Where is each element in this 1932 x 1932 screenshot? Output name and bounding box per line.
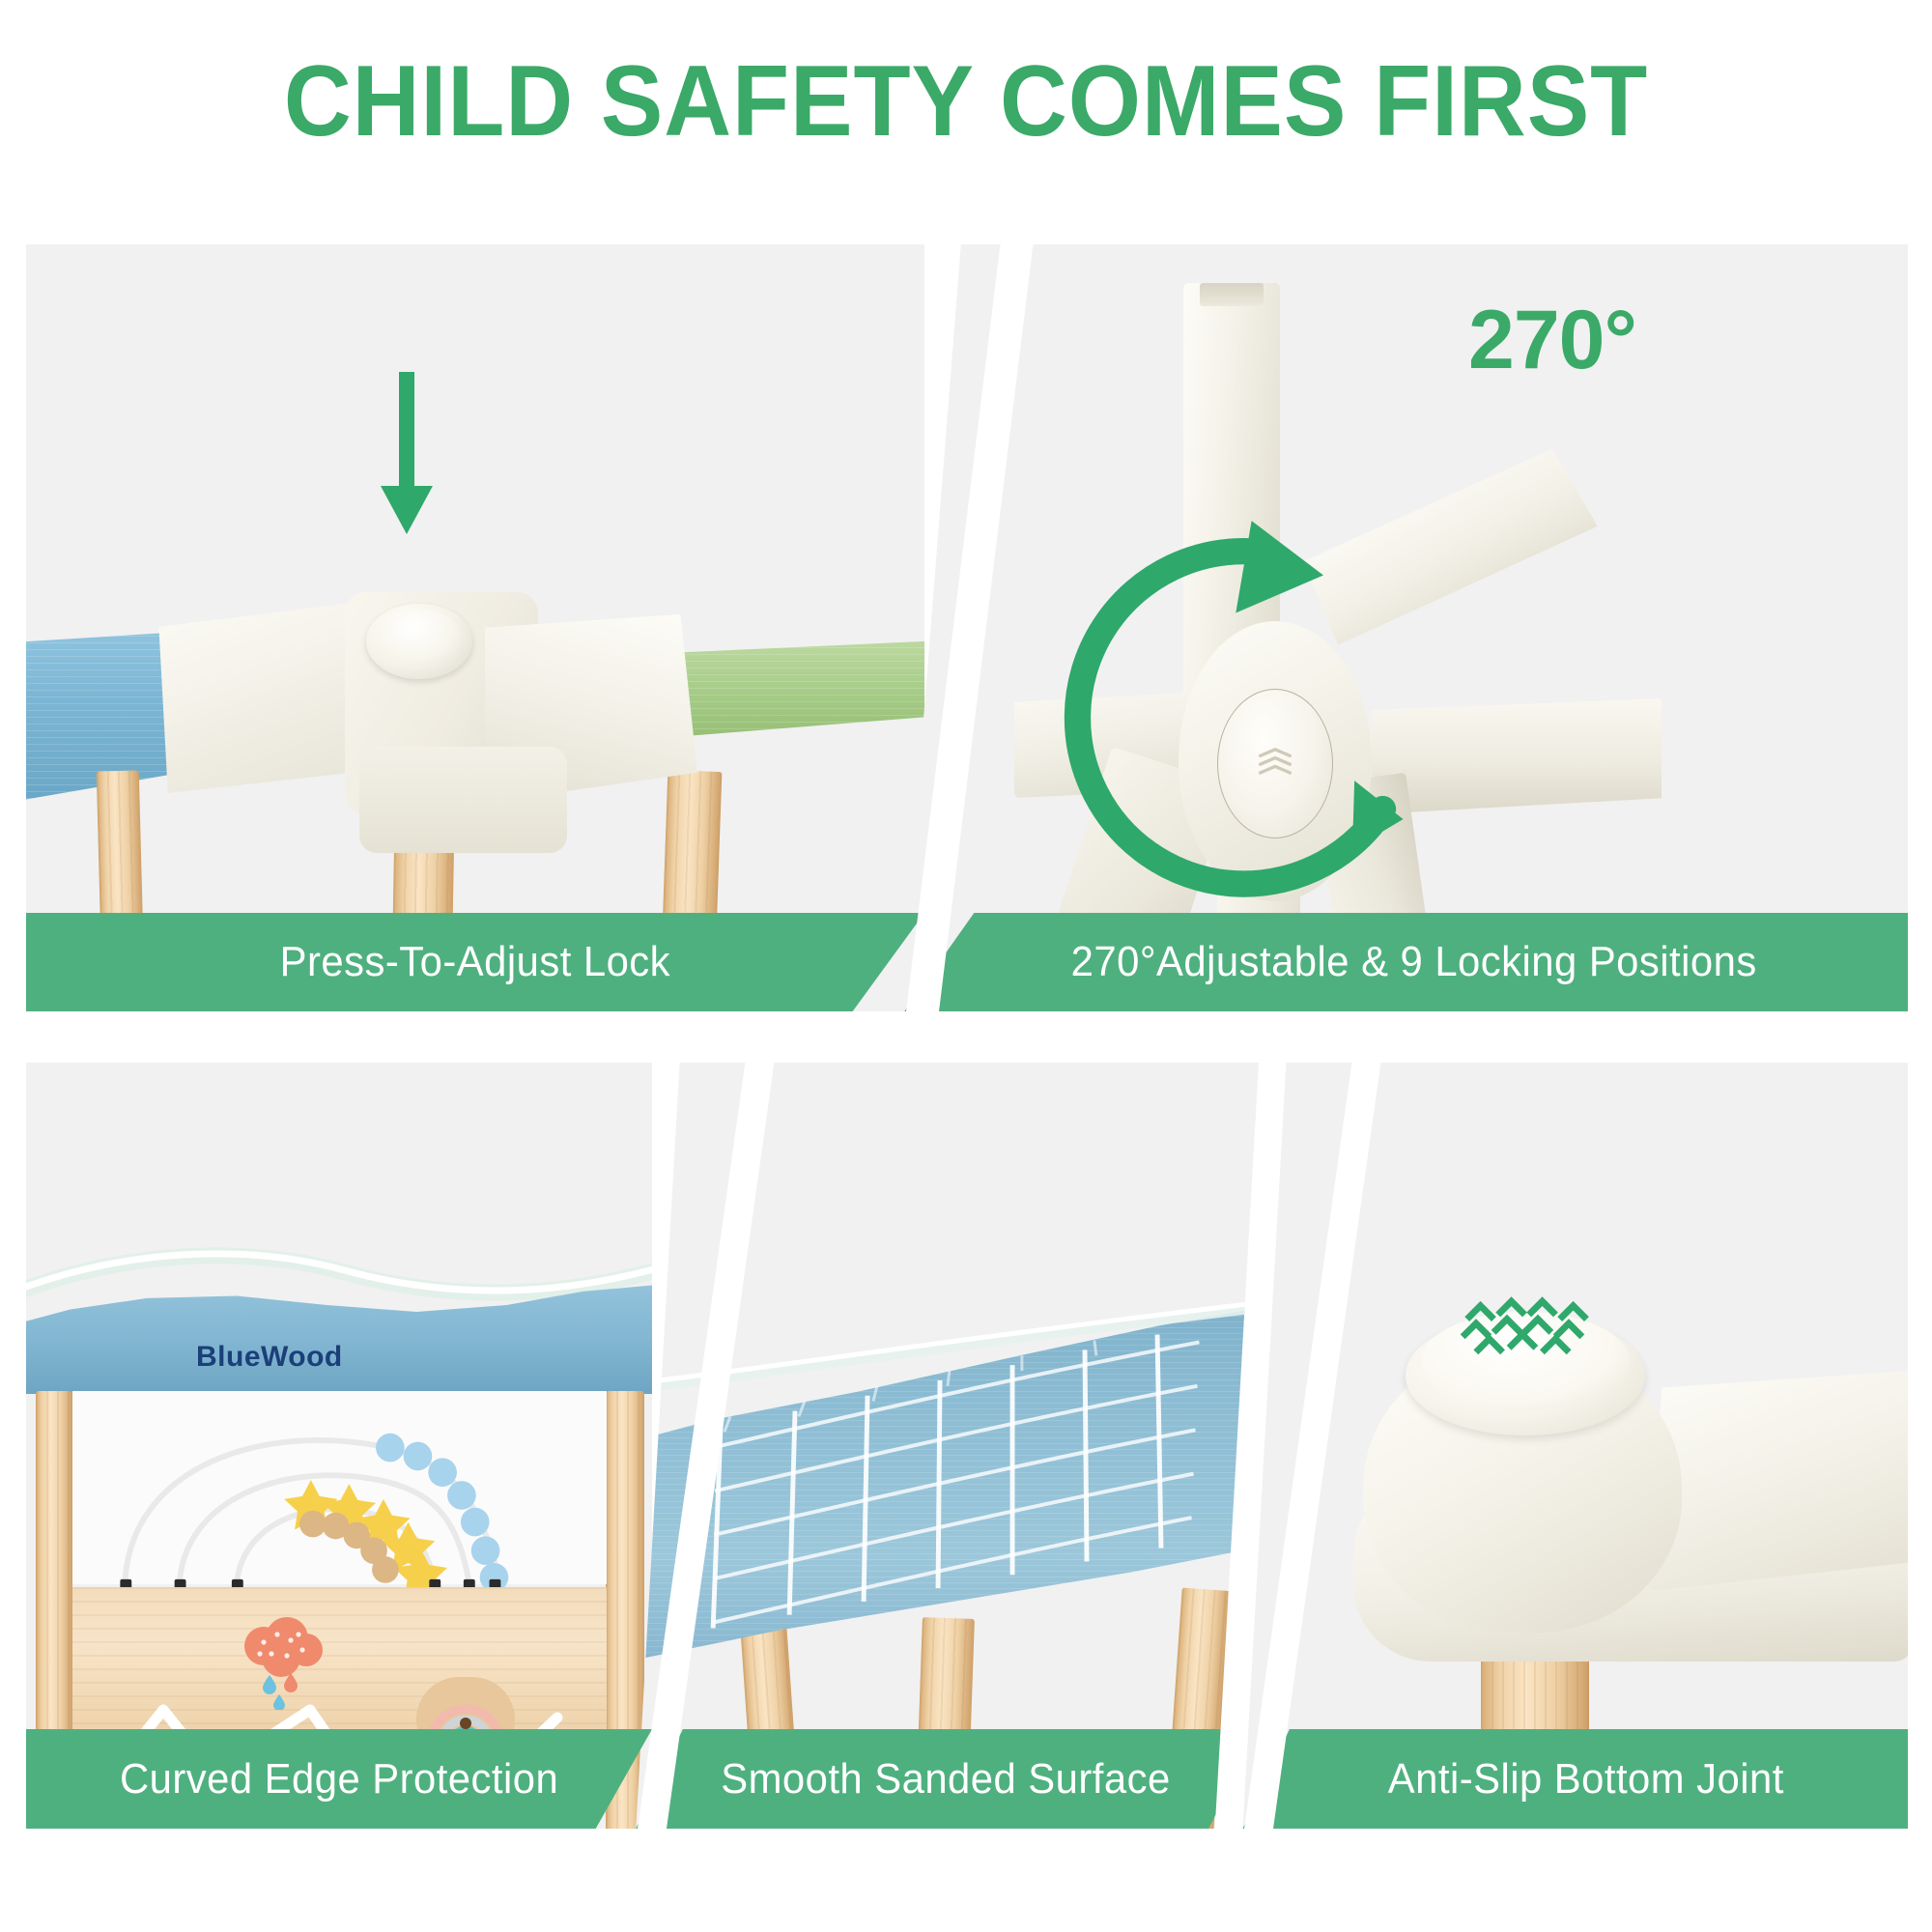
degree-badge: 270° <box>1468 293 1636 388</box>
brand-logo-bluewood: BlueWood <box>196 1341 343 1374</box>
rotation-arrow-icon <box>1048 515 1454 921</box>
caption-bar-anti-slip-bottom-joint: Anti-Slip Bottom Joint <box>1239 1729 1908 1829</box>
caption-text: 270°Adjustable & 9 Locking Positions <box>1070 938 1756 986</box>
bead-maze <box>72 1379 607 1602</box>
hinge-left-wing <box>150 600 377 793</box>
caption-bar-curved-edge-protection: Curved Edge Protection <box>26 1729 652 1829</box>
activity-panel-image: BlueWood <box>26 1063 652 1829</box>
caption-bar-smooth-sanded-surface: Smooth Sanded Surface <box>633 1729 1259 1829</box>
caption-text: Anti-Slip Bottom Joint <box>1388 1755 1784 1804</box>
press-button-inner <box>378 610 461 666</box>
page-title: CHILD SAFETY COMES FIRST <box>68 44 1864 159</box>
rotation-scene-image: 270° <box>898 244 1908 1011</box>
caption-bar-press-to-adjust-lock: Press-To-Adjust Lock <box>26 913 924 1011</box>
joint-arm-top-channel <box>1200 283 1264 306</box>
panel-smooth-sanded-surface: Smooth Sanded Surface <box>633 1063 1259 1829</box>
chevron-tread-icon <box>1450 1293 1595 1370</box>
lock-scene-image <box>26 244 924 1011</box>
panel-adjustable-positions: 270° 270°Adjustable & 9 Locking Position… <box>898 244 1908 1011</box>
caption-text: Smooth Sanded Surface <box>721 1755 1170 1804</box>
sanded-surface-image <box>633 1063 1259 1829</box>
arrow-down-icon <box>372 368 441 542</box>
panel-curved-edge-protection: BlueWood <box>26 1063 652 1829</box>
caption-text: Press-To-Adjust Lock <box>280 938 670 986</box>
joint-arm-extension <box>1645 1370 1908 1592</box>
hinge-lower-collar <box>359 747 567 853</box>
brand-text: BlueWood <box>196 1341 343 1373</box>
caption-text: Curved Edge Protection <box>120 1755 558 1804</box>
caption-bar-adjustable-positions: 270°Adjustable & 9 Locking Positions <box>898 913 1908 1011</box>
infographic-page: CHILD SAFETY COMES FIRST <box>0 0 1932 1932</box>
panel-press-to-adjust-lock: Press-To-Adjust Lock <box>26 244 924 1011</box>
